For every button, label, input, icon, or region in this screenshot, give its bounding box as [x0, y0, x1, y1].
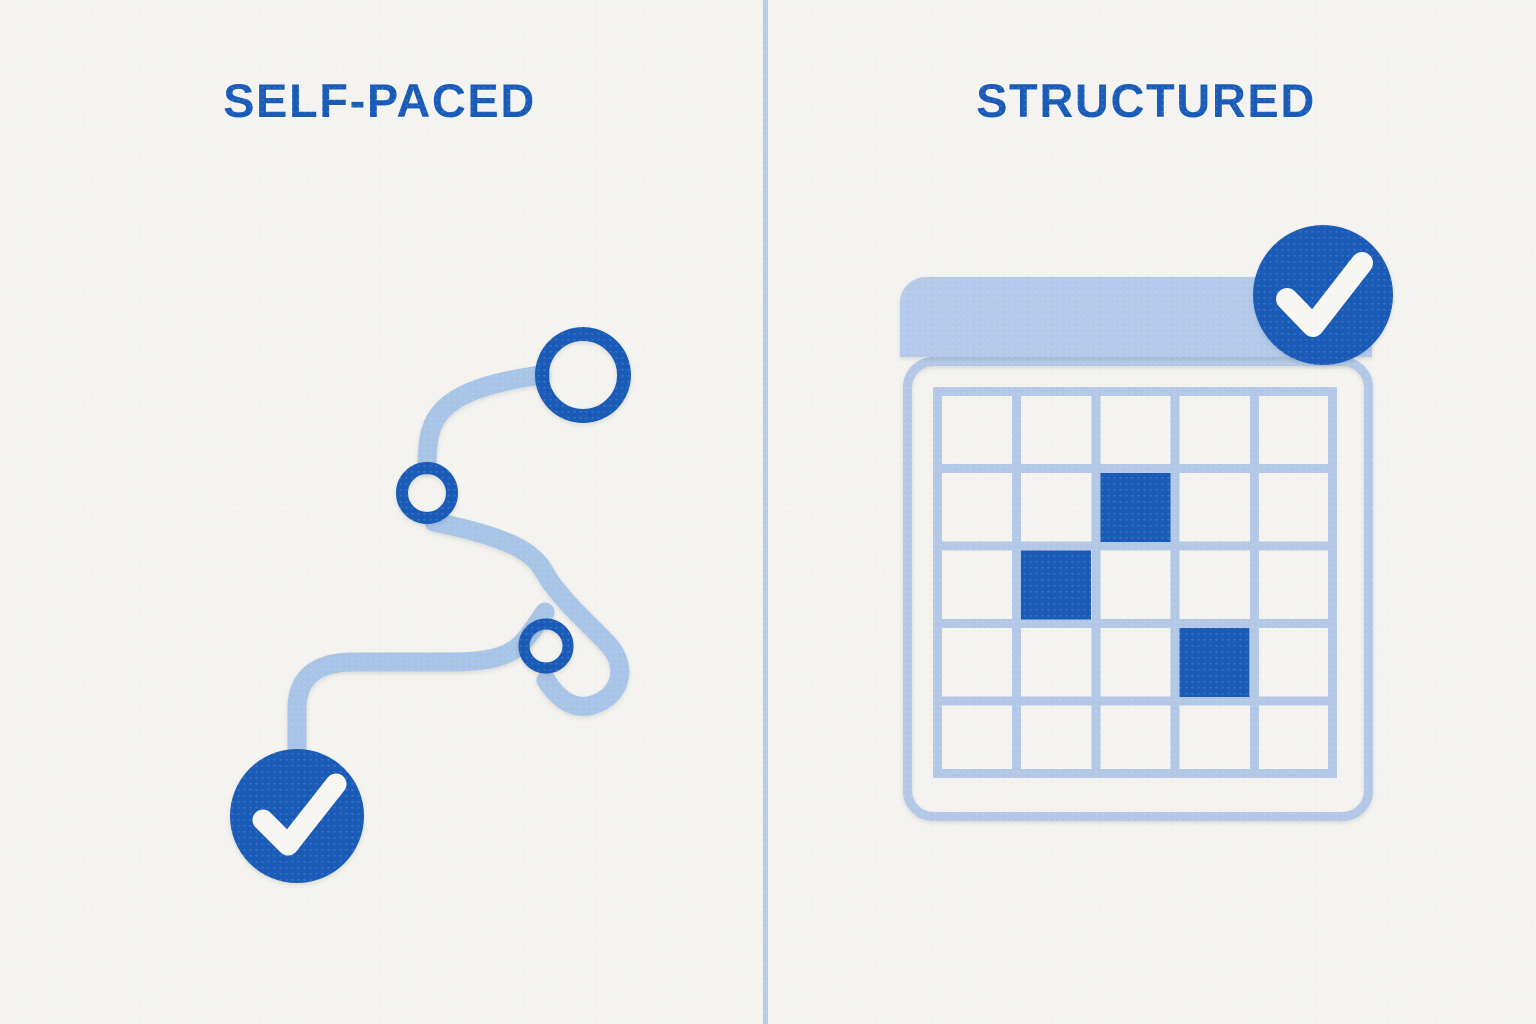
vertical-divider	[763, 0, 768, 1024]
grid-frame	[938, 392, 1333, 774]
milestone-node-ring-medium[interactable]	[402, 468, 452, 518]
milestone-node-ring-large[interactable]	[542, 334, 624, 416]
learning-path-track	[297, 375, 620, 760]
calendar-confirmed-badge[interactable]	[1253, 225, 1393, 365]
calendar-grid	[933, 387, 1337, 778]
panel-structured: STRUCTURED	[770, 0, 1536, 1024]
calendar-body-outline	[908, 362, 1369, 817]
calendar-svg	[770, 0, 1536, 1024]
winding-path-svg	[0, 0, 765, 1024]
illustration-stage: SELF-PACED	[0, 0, 1536, 1024]
panel-self-paced: SELF-PACED	[0, 0, 765, 1024]
completed-check-circle[interactable]	[230, 749, 364, 883]
calendar-cell-scheduled[interactable]	[1180, 628, 1250, 697]
calendar-cell-scheduled[interactable]	[1021, 551, 1091, 620]
structured-artwork	[770, 0, 1536, 1024]
self-paced-artwork	[0, 0, 765, 1024]
calendar-cell-scheduled[interactable]	[1101, 473, 1171, 542]
